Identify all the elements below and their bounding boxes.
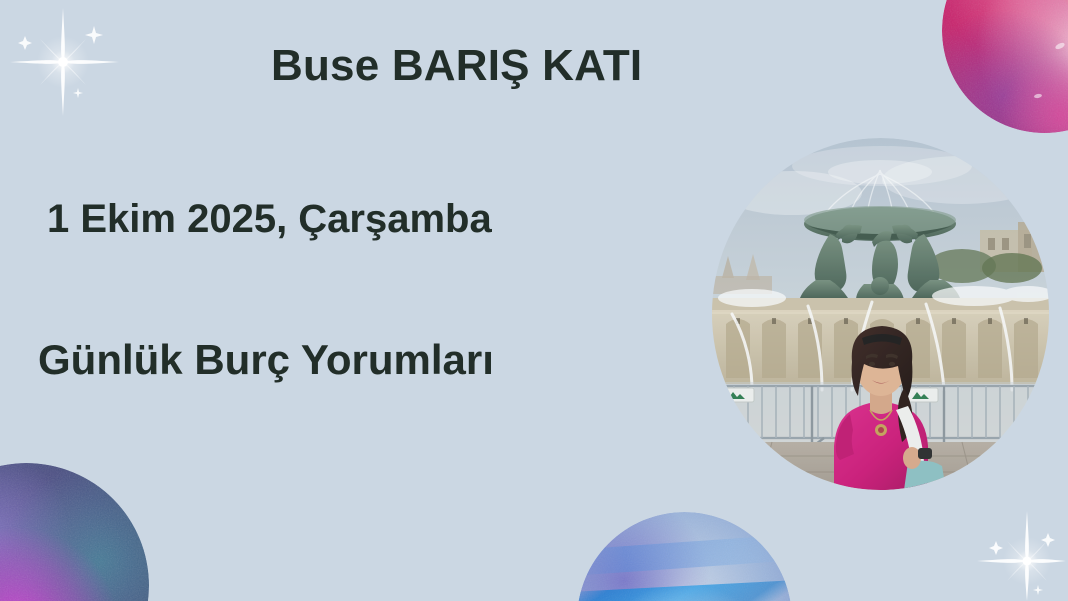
- blue-watercolor-circle: [577, 512, 792, 601]
- pink-watercolor-circle: [942, 0, 1068, 133]
- title-card: Buse BARIŞ KATI 1 Ekim 2025, Çarşamba Gü…: [0, 0, 1068, 601]
- sparkle-icon: [6, 4, 128, 120]
- purple-watercolor-circle: [0, 463, 149, 601]
- date-line: 1 Ekim 2025, Çarşamba: [47, 196, 492, 242]
- topic-line: Günlük Burç Yorumları: [38, 336, 494, 384]
- portrait-photo: [712, 138, 1049, 490]
- page-title: Buse BARIŞ KATI: [271, 41, 642, 92]
- sparkle-icon: [955, 505, 1067, 601]
